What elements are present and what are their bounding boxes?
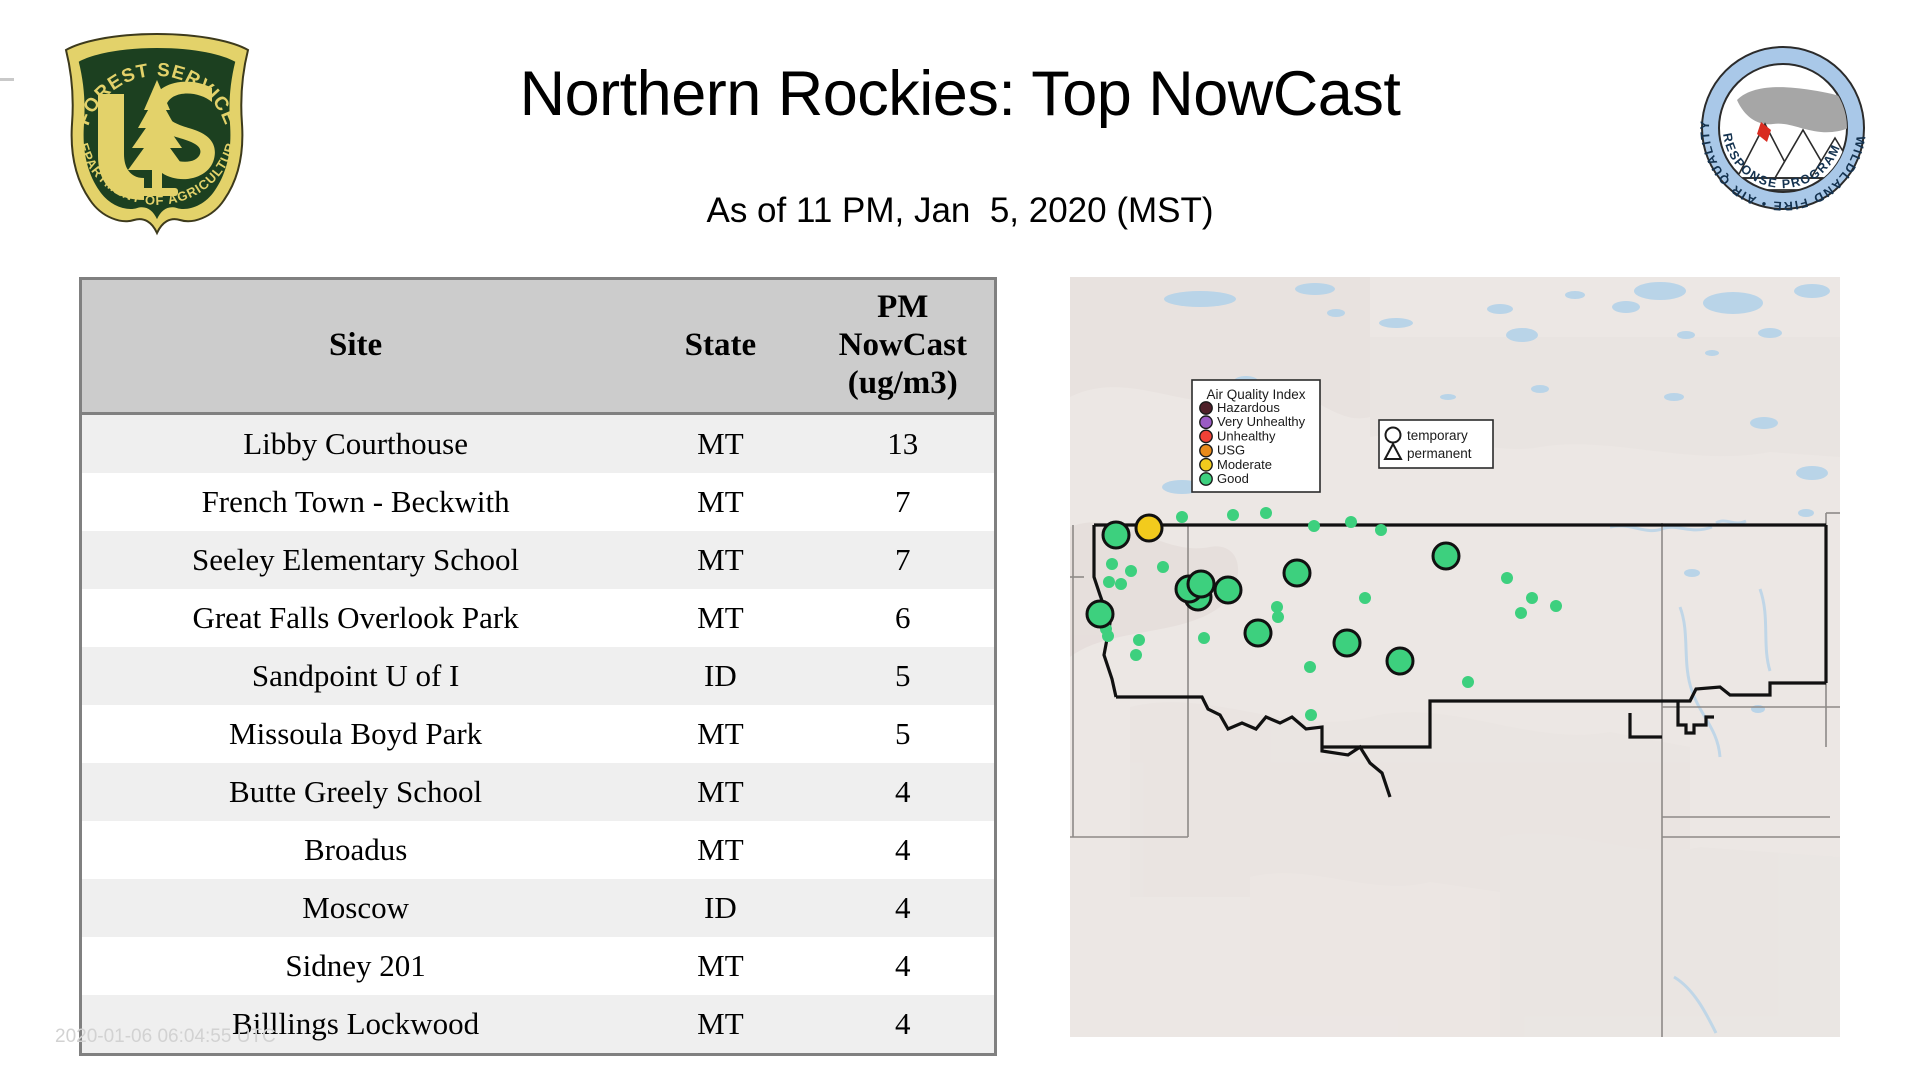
- map-marker-small: [1501, 572, 1513, 584]
- nowcast-table: Site State PM NowCast (ug/m3) Libby Cour…: [82, 280, 994, 1053]
- cell-pm-nowcast: 7: [812, 473, 994, 531]
- map-marker-small: [1375, 524, 1387, 536]
- cell-pm-nowcast: 4: [812, 995, 994, 1053]
- map-marker-small: [1125, 565, 1137, 577]
- cell-state: MT: [629, 995, 811, 1053]
- cell-site: French Town - Beckwith: [82, 473, 629, 531]
- table-header-row: Site State PM NowCast (ug/m3): [82, 280, 994, 414]
- column-header-pm-line3: (ug/m3): [812, 364, 994, 402]
- aqi-legend-swatch: [1200, 430, 1212, 442]
- map-marker-small: [1227, 509, 1239, 521]
- cell-state: MT: [629, 763, 811, 821]
- map-marker-small: [1308, 520, 1320, 532]
- nowcast-table-body: Libby CourthouseMT13French Town - Beckwi…: [82, 414, 994, 1054]
- cell-state: MT: [629, 705, 811, 763]
- aqi-legend-swatch: [1200, 416, 1212, 428]
- map-marker-small: [1550, 600, 1562, 612]
- aqi-legend-label: Hazardous: [1217, 400, 1280, 415]
- column-header-site: Site: [82, 280, 629, 414]
- map-marker-small: [1102, 630, 1114, 642]
- cell-site: Great Falls Overlook Park: [82, 589, 629, 647]
- table-row: Sidney 201MT4: [82, 937, 994, 995]
- us-forest-service-shield-icon: FOREST SERVICE DEPARTMENT OF AGRICULTURE: [52, 28, 262, 238]
- map-marker-monitor[interactable]: [1284, 560, 1310, 586]
- map-marker-monitor[interactable]: [1215, 577, 1241, 603]
- map-marker-small: [1345, 516, 1357, 528]
- map-marker-small: [1359, 592, 1371, 604]
- aqi-legend-swatch: [1200, 444, 1212, 456]
- aqi-legend-swatch: [1200, 402, 1212, 414]
- aqi-legend-swatch: [1200, 459, 1212, 471]
- monitor-map[interactable]: Air Quality Index HazardousVery Unhealth…: [1070, 277, 1840, 1037]
- cell-site: Sandpoint U of I: [82, 647, 629, 705]
- page-subtitle: As of 11 PM, Jan 5, 2020 (MST): [300, 190, 1620, 232]
- cell-pm-nowcast: 5: [812, 705, 994, 763]
- aqi-legend-label: USG: [1217, 443, 1245, 458]
- table-row: BroadusMT4: [82, 821, 994, 879]
- cell-site: Sidney 201: [82, 937, 629, 995]
- cell-state: MT: [629, 473, 811, 531]
- column-header-pm-line2: NowCast: [812, 326, 994, 364]
- map-marker-small: [1526, 592, 1538, 604]
- cell-pm-nowcast: 4: [812, 763, 994, 821]
- cell-state: MT: [629, 821, 811, 879]
- left-edge-mark: [0, 78, 14, 81]
- cell-pm-nowcast: 6: [812, 589, 994, 647]
- map-marker-small: [1272, 611, 1284, 623]
- cell-site: Seeley Elementary School: [82, 531, 629, 589]
- map-marker-small: [1462, 676, 1474, 688]
- cell-site: Missoula Boyd Park: [82, 705, 629, 763]
- cell-state: ID: [629, 879, 811, 937]
- cell-pm-nowcast: 5: [812, 647, 994, 705]
- table-row: Libby CourthouseMT13: [82, 414, 994, 474]
- column-header-site-label: Site: [329, 327, 382, 363]
- map-marker-small: [1176, 511, 1188, 523]
- monitor-type-legend: temporary permanent: [1379, 420, 1493, 468]
- map-marker-monitor[interactable]: [1188, 571, 1214, 597]
- map-marker-small: [1305, 709, 1317, 721]
- column-header-pm-nowcast: PM NowCast (ug/m3): [812, 280, 994, 414]
- map-marker-small: [1103, 576, 1115, 588]
- aqi-legend-label: Unhealthy: [1217, 428, 1276, 443]
- table-row: Great Falls Overlook ParkMT6: [82, 589, 994, 647]
- map-marker-monitor[interactable]: [1136, 515, 1162, 541]
- cell-pm-nowcast: 4: [812, 821, 994, 879]
- cell-pm-nowcast: 4: [812, 937, 994, 995]
- map-marker-monitor[interactable]: [1334, 630, 1360, 656]
- map-marker-small: [1157, 561, 1169, 573]
- cell-site: Butte Greely School: [82, 763, 629, 821]
- aqi-legend: Air Quality Index HazardousVery Unhealth…: [1192, 380, 1320, 492]
- monitor-legend-permanent-label: permanent: [1407, 446, 1472, 461]
- monitor-legend-temporary-label: temporary: [1407, 428, 1468, 443]
- table-row: Butte Greely SchoolMT4: [82, 763, 994, 821]
- map-marker-small: [1304, 661, 1316, 673]
- map-marker-small: [1198, 632, 1210, 644]
- aqi-legend-label: Moderate: [1217, 457, 1272, 472]
- map-marker-small: [1515, 607, 1527, 619]
- wfaqrp-logo: WILDLAND FIRE • AIR QUALITY RESPONSE PRO…: [1693, 38, 1873, 218]
- cell-site: Moscow: [82, 879, 629, 937]
- nowcast-table-container: Site State PM NowCast (ug/m3) Libby Cour…: [79, 277, 997, 1056]
- table-row: Missoula Boyd ParkMT5: [82, 705, 994, 763]
- table-row: MoscowID4: [82, 879, 994, 937]
- map-marker-small: [1106, 558, 1118, 570]
- page-title: Northern Rockies: Top NowCast: [300, 58, 1620, 130]
- map-marker-small: [1133, 634, 1145, 646]
- footer-timestamp: 2020-01-06 06:04:55 UTC: [55, 1026, 276, 1048]
- aqi-legend-label: Very Unhealthy: [1217, 414, 1306, 429]
- column-header-state: State: [629, 280, 811, 414]
- cell-pm-nowcast: 13: [812, 414, 994, 474]
- column-header-pm-line1: PM: [812, 288, 994, 326]
- cell-state: MT: [629, 589, 811, 647]
- cell-state: ID: [629, 647, 811, 705]
- map-marker-small: [1115, 578, 1127, 590]
- map-marker-small: [1260, 507, 1272, 519]
- map-marker-monitor[interactable]: [1387, 648, 1413, 674]
- map-marker-monitor[interactable]: [1103, 522, 1129, 548]
- map-marker-monitor[interactable]: [1087, 601, 1113, 627]
- cell-site: Libby Courthouse: [82, 414, 629, 474]
- us-forest-service-logo: FOREST SERVICE DEPARTMENT OF AGRICULTURE: [52, 28, 262, 238]
- map-marker-monitor[interactable]: [1245, 620, 1271, 646]
- aqi-legend-swatch: [1200, 473, 1212, 485]
- cell-state: MT: [629, 414, 811, 474]
- table-row: French Town - BeckwithMT7: [82, 473, 994, 531]
- map-svg[interactable]: Air Quality Index HazardousVery Unhealth…: [1070, 277, 1840, 1037]
- cell-pm-nowcast: 4: [812, 879, 994, 937]
- cell-state: MT: [629, 937, 811, 995]
- wildland-fire-air-quality-seal-icon: WILDLAND FIRE • AIR QUALITY RESPONSE PRO…: [1693, 38, 1873, 218]
- cell-site: Broadus: [82, 821, 629, 879]
- table-row: Sandpoint U of IID5: [82, 647, 994, 705]
- column-header-state-label: State: [685, 327, 756, 363]
- cell-state: MT: [629, 531, 811, 589]
- map-marker-monitor[interactable]: [1433, 543, 1459, 569]
- cell-pm-nowcast: 7: [812, 531, 994, 589]
- aqi-legend-label: Good: [1217, 471, 1249, 486]
- map-marker-small: [1130, 649, 1142, 661]
- table-row: Seeley Elementary SchoolMT7: [82, 531, 994, 589]
